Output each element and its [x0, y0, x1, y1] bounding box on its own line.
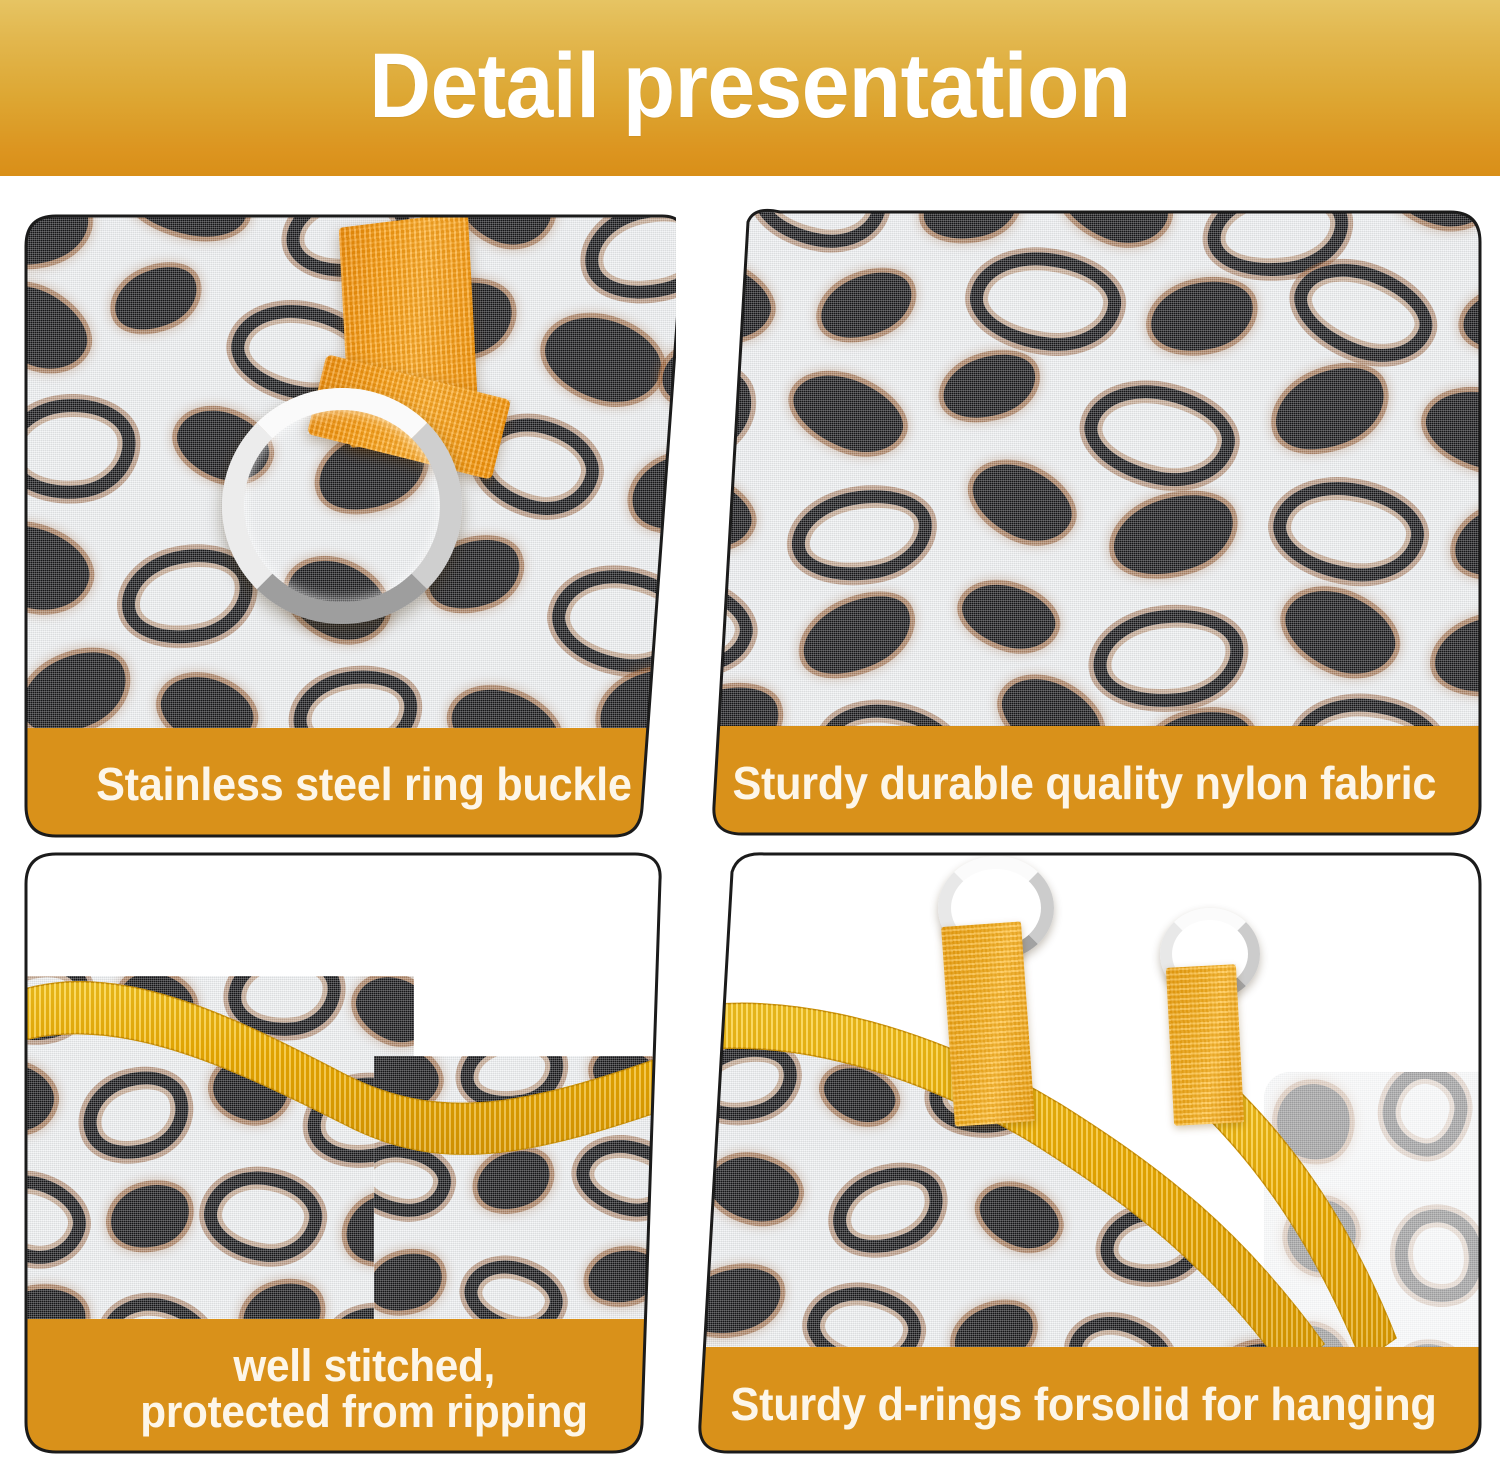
card-shape-well-stitched: well stitched, protected from ripping	[14, 846, 714, 1469]
caption-text: Stainless steel ring buckle	[96, 757, 632, 811]
d-ring-tab-right	[1166, 964, 1244, 1125]
caption-text-line-2: protected from ripping	[140, 1389, 587, 1435]
caption-well-stitched: well stitched, protected from ripping	[14, 1319, 714, 1469]
caption-nylon-fabric: Sturdy durable quality nylon fabric	[676, 726, 1492, 848]
card-shape-ring-buckle: Stainless steel ring buckle	[14, 208, 714, 848]
detail-presentation-page: Detail presentation	[0, 0, 1500, 1469]
header-banner: Detail presentation	[0, 0, 1500, 176]
detail-card-nylon-fabric: Sturdy durable quality nylon fabric	[676, 208, 1492, 848]
card-shape-nylon-fabric: Sturdy durable quality nylon fabric	[676, 208, 1492, 848]
card-shape-d-rings: Sturdy d-rings forsolid for hanging	[676, 846, 1492, 1469]
detail-card-ring-buckle: Stainless steel ring buckle	[14, 208, 714, 848]
detail-card-d-rings: Sturdy d-rings forsolid for hanging	[676, 846, 1492, 1469]
d-ring-tab-left	[941, 921, 1035, 1126]
caption-text: Sturdy durable quality nylon fabric	[732, 756, 1436, 810]
caption-text: Sturdy d-rings forsolid for hanging	[731, 1377, 1437, 1431]
caption-ring-buckle: Stainless steel ring buckle	[14, 728, 714, 848]
page-title: Detail presentation	[53, 26, 1448, 146]
stainless-steel-o-ring	[222, 388, 462, 624]
caption-text-line-1: well stitched,	[233, 1343, 495, 1389]
detail-card-well-stitched: well stitched, protected from ripping	[14, 846, 714, 1469]
